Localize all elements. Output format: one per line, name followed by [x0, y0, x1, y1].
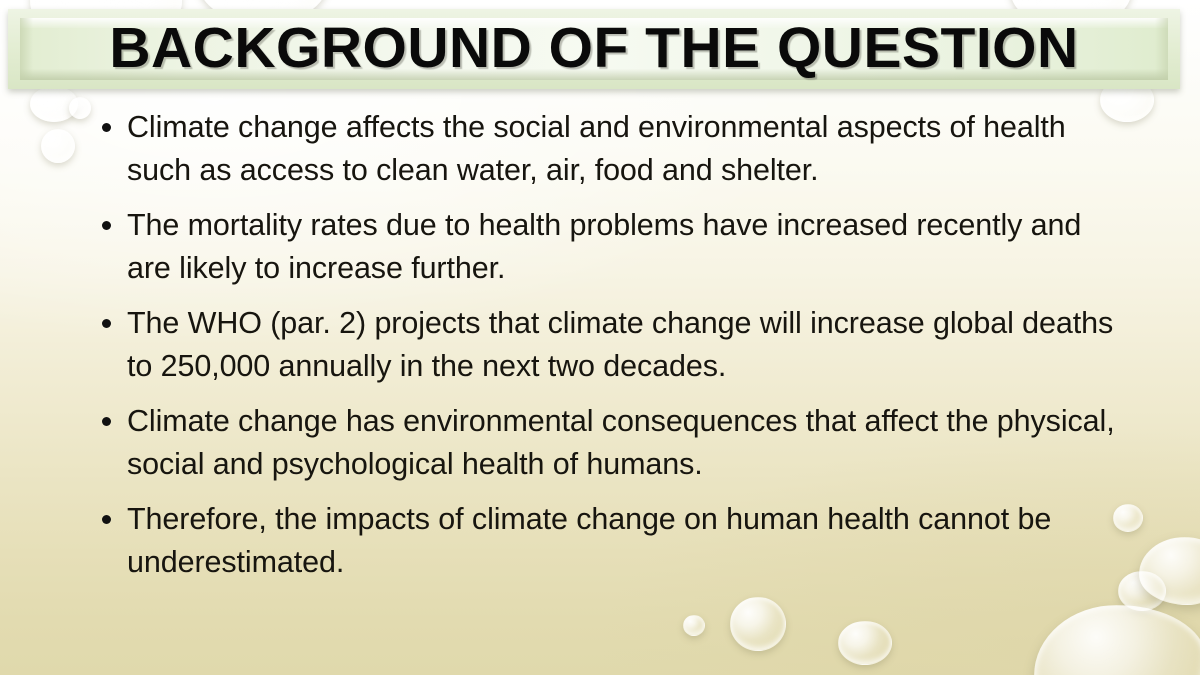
- bullet-dot-icon: [102, 221, 111, 230]
- bullet-text: The WHO (par. 2) projects that climate c…: [127, 302, 1122, 388]
- droplet-left-medium-icon: [41, 129, 75, 163]
- bullet-dot-icon: [102, 123, 111, 132]
- list-item: The WHO (par. 2) projects that climate c…: [92, 302, 1122, 388]
- slide-canvas: BACKGROUND OF THE QUESTION Climate chang…: [0, 0, 1200, 675]
- droplet-bottom-small-1-icon: [683, 615, 705, 636]
- bullet-dot-icon: [102, 515, 111, 524]
- droplet-blob-upper-icon: [1139, 537, 1200, 605]
- droplet-blob-large-icon: [1034, 605, 1200, 675]
- droplet-bottom-medium-icon: [730, 597, 786, 651]
- title-banner: BACKGROUND OF THE QUESTION: [8, 9, 1180, 89]
- list-item: Therefore, the impacts of climate change…: [92, 498, 1122, 584]
- bullet-dot-icon: [102, 319, 111, 328]
- list-item: Climate change has environmental consequ…: [92, 400, 1122, 486]
- list-item: The mortality rates due to health proble…: [92, 204, 1122, 290]
- droplet-bottom-right-1-icon: [1118, 571, 1166, 611]
- bullet-text: Climate change affects the social and en…: [127, 106, 1122, 192]
- droplet-left-small-icon: [69, 97, 91, 119]
- bullet-text: Therefore, the impacts of climate change…: [127, 498, 1122, 584]
- bullet-text: Climate change has environmental consequ…: [127, 400, 1122, 486]
- droplet-banner-under-icon: [30, 86, 78, 122]
- slide-title: BACKGROUND OF THE QUESTION: [8, 9, 1180, 89]
- bullet-dot-icon: [102, 417, 111, 426]
- list-item: Climate change affects the social and en…: [92, 106, 1122, 192]
- bullet-text: The mortality rates due to health proble…: [127, 204, 1122, 290]
- droplet-bottom-wide-icon: [838, 621, 892, 665]
- bullet-list: Climate change affects the social and en…: [92, 106, 1122, 596]
